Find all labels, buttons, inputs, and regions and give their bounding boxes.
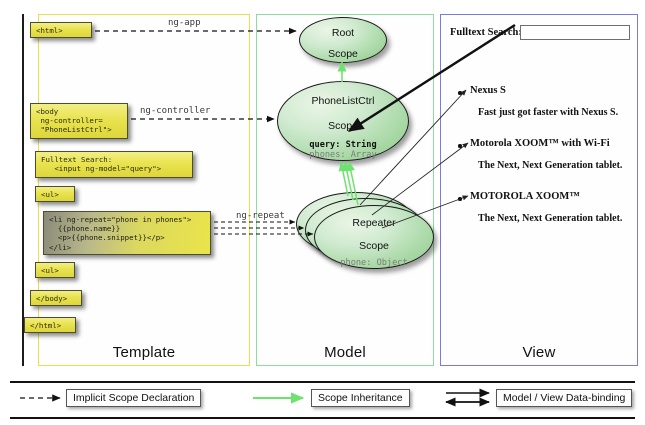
legend-glyph-databinding xyxy=(446,393,489,402)
scope-phonelistctrl-name-1: PhoneListCtrl xyxy=(278,82,408,107)
code-box-li-ngrepeat: <li ng-repeat="phone in phones"> {{phone… xyxy=(43,211,211,255)
scope-root-name-2: Scope xyxy=(300,39,386,60)
legend-label-scope-inheritance: Scope Inheritance xyxy=(311,389,410,407)
list-item-title: Motorola XOOM™ with Wi-Fi xyxy=(470,138,610,149)
view-content: Fulltext Search: Nexus S Fast just got f… xyxy=(440,14,638,366)
scope-repeater: Repeater Scope phone: Object xyxy=(314,205,434,269)
scope-repeater-name-2: Scope xyxy=(315,229,433,252)
code-box-html-open: <html> xyxy=(30,22,92,38)
scope-field-query: query: String xyxy=(278,140,408,150)
scope-repeater-fields: phone: Object xyxy=(315,258,433,268)
list-item-desc: The Next, Next Generation tablet. xyxy=(478,160,622,171)
list-item-desc: The Next, Next Generation tablet. xyxy=(478,213,622,224)
legend-label-implicit-scope-declaration: Implicit Scope Declaration xyxy=(66,389,201,407)
code-box-body-open: <body ng-controller= "PhoneListCtrl"> xyxy=(30,103,128,139)
scope-phonelistctrl: PhoneListCtrl Scope query: String phones… xyxy=(277,81,409,161)
scope-field-phone: phone: Object xyxy=(315,258,433,268)
panel-model: Model xyxy=(256,14,434,366)
list-bullet xyxy=(458,144,462,148)
scope-field-phones: phones: Array xyxy=(278,150,408,160)
code-box-html-close: </html> xyxy=(24,317,76,333)
scope-phonelistctrl-fields: query: String phones: Array xyxy=(278,140,408,160)
fulltext-search-label: Fulltext Search: xyxy=(450,27,522,38)
scope-root: Root Scope xyxy=(299,17,387,63)
left-edge-rule xyxy=(22,14,24,366)
code-box-ul-close: <ul> xyxy=(35,262,75,278)
list-bullet xyxy=(458,197,462,201)
panel-model-label: Model xyxy=(257,344,433,361)
scope-phonelistctrl-name-2: Scope xyxy=(278,107,408,132)
code-box-body-close: </body> xyxy=(30,290,82,306)
list-bullet xyxy=(458,91,462,95)
scope-repeater-name-1: Repeater xyxy=(315,206,433,229)
legend-rule-bottom xyxy=(10,417,635,419)
panel-template-label: Template xyxy=(39,344,249,361)
list-item-title: Nexus S xyxy=(470,85,506,96)
scope-root-name-1: Root xyxy=(300,18,386,39)
code-box-ul-open: <ul> xyxy=(35,186,75,202)
list-item-title: MOTOROLA XOOM™ xyxy=(470,191,580,202)
list-item-desc: Fast just got faster with Nexus S. xyxy=(478,107,618,118)
legend-label-model-view-databinding: Model / View Data-binding xyxy=(496,389,632,407)
fulltext-search-input[interactable] xyxy=(520,25,630,40)
code-box-search-input: Fulltext Search: <input ng-model="query"… xyxy=(35,151,193,178)
legend-rule-top xyxy=(10,381,635,383)
diagram-canvas: Template Model View <html> <body ng-cont… xyxy=(0,0,645,425)
